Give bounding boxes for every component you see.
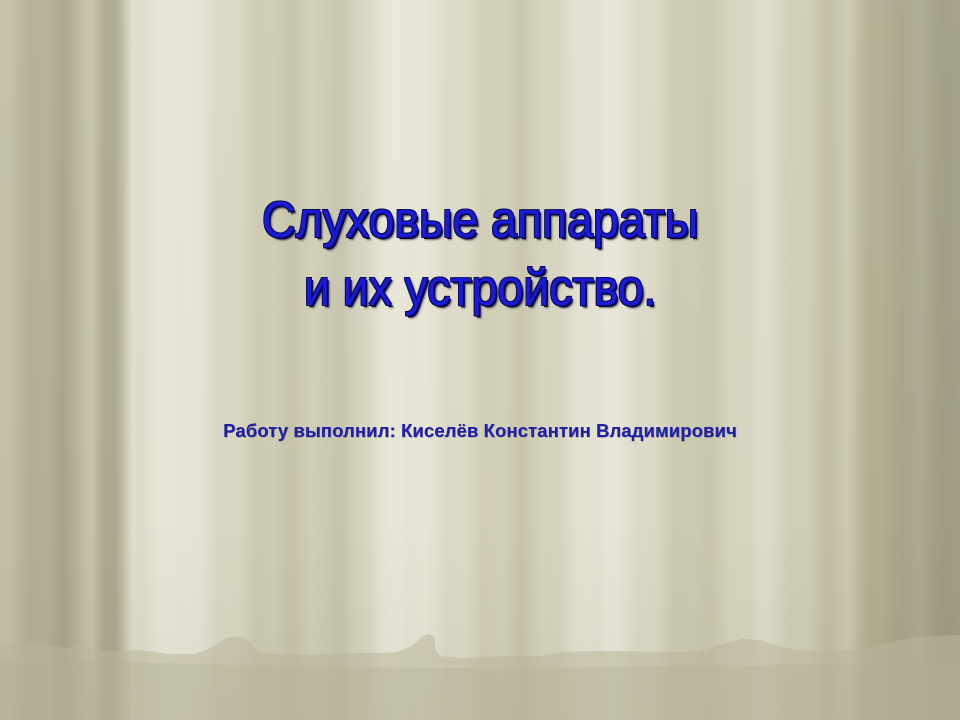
slide-title-line-2: и их устройство.	[38, 254, 921, 322]
slide-subtitle: Работу выполнил: Киселёв Константин Влад…	[0, 419, 960, 443]
slide-title-line-1: Слуховые аппараты	[38, 186, 921, 254]
slide-title: Слуховые аппараты и их устройство.	[0, 186, 960, 322]
slide-subtitle-author: Работу выполнил: Киселёв Константин Влад…	[223, 419, 737, 443]
presentation-slide: Слуховые аппараты и их устройство. Работ…	[0, 0, 960, 720]
slide-text-layer: Слуховые аппараты и их устройство. Работ…	[0, 0, 960, 720]
